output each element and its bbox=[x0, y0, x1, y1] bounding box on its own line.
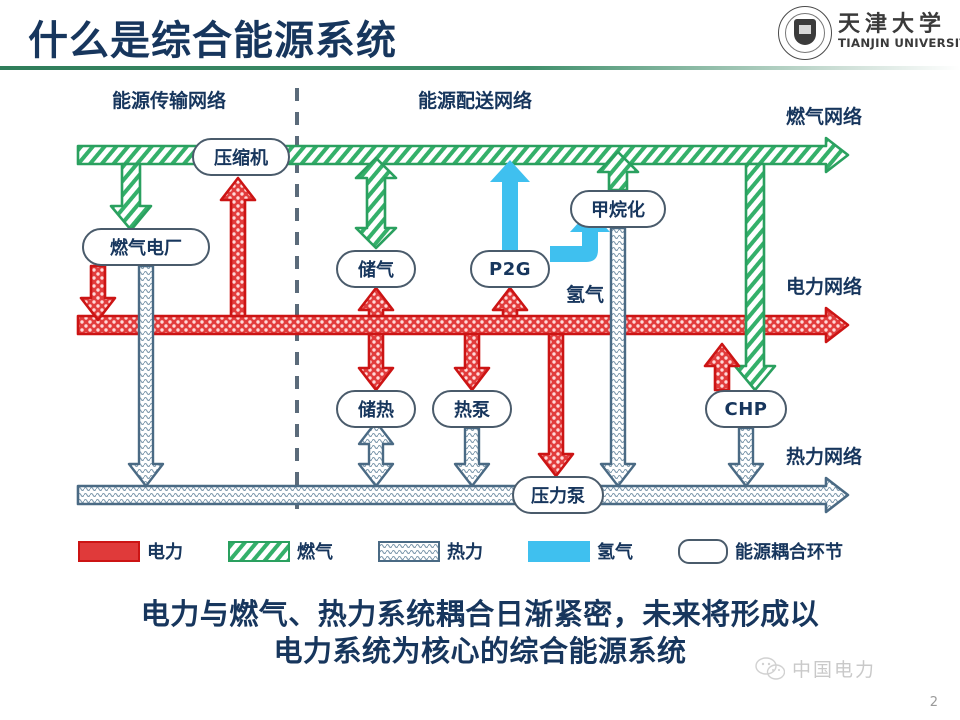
slide-header: 什么是综合能源系统 天津大学 TIANJIN UNIVERSITY bbox=[0, 0, 960, 72]
legend-label-electricity: 电力 bbox=[147, 538, 183, 564]
page-number: 2 bbox=[930, 695, 938, 710]
flow-heatpump-to-heatbus bbox=[455, 428, 489, 486]
flow-heatstorage-bidirectional bbox=[359, 422, 393, 486]
legend-item-heat: 热力 bbox=[378, 538, 483, 564]
flow-elecbus-to-heatpump bbox=[455, 334, 489, 390]
watermark-text: 中国电力 bbox=[792, 655, 876, 682]
tianjin-university-logo: 天津大学 TIANJIN UNIVERSITY bbox=[778, 4, 948, 62]
wechat-watermark: 中国电力 bbox=[755, 655, 876, 682]
logo-english-name: TIANJIN UNIVERSITY bbox=[838, 36, 960, 50]
flow-elecbus-to-pressurepump bbox=[539, 334, 573, 476]
flow-gas-storage-bidirectional bbox=[356, 158, 396, 248]
legend-label-heat: 热力 bbox=[447, 538, 483, 564]
flow-gas-to-chp bbox=[735, 164, 775, 390]
network-label-electricity: 电力网络 bbox=[786, 272, 862, 299]
node-heat-pump[interactable]: 热泵 bbox=[432, 390, 512, 428]
flow-label-hydrogen: 氢气 bbox=[566, 280, 604, 307]
legend-swatch-electricity bbox=[78, 541, 140, 562]
header-divider-rule bbox=[0, 66, 960, 70]
node-pressure-pump[interactable]: 压力泵 bbox=[512, 476, 604, 514]
flow-elecbus-to-p2g bbox=[493, 288, 527, 316]
legend-item-gas: 燃气 bbox=[228, 538, 333, 564]
legend-item-hydrogen: 氢气 bbox=[528, 538, 633, 564]
network-label-heat: 热力网络 bbox=[786, 442, 862, 469]
node-p2g[interactable]: P2G bbox=[470, 250, 550, 288]
legend-swatch-hydrogen bbox=[528, 541, 590, 562]
section-label-distribution: 能源配送网络 bbox=[418, 86, 532, 113]
node-gas-power-plant[interactable]: 燃气电厂 bbox=[82, 228, 210, 266]
legend-item-coupling: 能源耦合环节 bbox=[678, 538, 843, 564]
flow-gas-to-gasplant bbox=[111, 164, 151, 230]
flow-chp-to-elecbus bbox=[705, 344, 739, 390]
legend-swatch-gas bbox=[228, 541, 290, 562]
legend: 电力 燃气 热力 氢气 能源耦合环节 bbox=[0, 534, 960, 574]
legend-swatch-heat bbox=[378, 541, 440, 562]
electricity-bus bbox=[78, 308, 848, 342]
node-gas-storage[interactable]: 储气 bbox=[336, 250, 416, 288]
node-methanation[interactable]: 甲烷化 bbox=[570, 190, 666, 228]
heat-bus bbox=[78, 478, 848, 512]
university-seal-icon bbox=[778, 6, 832, 60]
legend-label-gas: 燃气 bbox=[297, 538, 333, 564]
page-title: 什么是综合能源系统 bbox=[28, 8, 397, 66]
flow-chp-to-heatbus bbox=[729, 428, 763, 486]
node-chp[interactable]: CHP bbox=[705, 390, 787, 428]
flow-p2g-to-gasbus-hydrogen bbox=[490, 160, 530, 250]
flow-gasplant-to-elecbus bbox=[81, 266, 115, 320]
wechat-icon bbox=[755, 657, 785, 681]
shield-icon bbox=[794, 19, 816, 45]
legend-swatch-coupling-node bbox=[678, 539, 728, 564]
node-compressor[interactable]: 压缩机 bbox=[192, 138, 290, 176]
energy-system-diagram: 能源传输网络 能源配送网络 燃气网络 电力网络 热力网络 氢气 压缩机 燃气电厂… bbox=[0, 72, 960, 527]
legend-label-coupling: 能源耦合环节 bbox=[735, 538, 843, 564]
section-label-transmission: 能源传输网络 bbox=[112, 86, 226, 113]
flow-methanation-to-heatbus bbox=[601, 228, 635, 486]
logo-chinese-name: 天津大学 bbox=[838, 6, 946, 38]
flow-elecbus-to-gasstorage bbox=[359, 288, 393, 316]
node-heat-storage[interactable]: 储热 bbox=[336, 390, 416, 428]
network-label-gas: 燃气网络 bbox=[786, 102, 862, 129]
legend-item-electricity: 电力 bbox=[78, 538, 183, 564]
conclusion-line-1: 电力与燃气、热力系统耦合日渐紧密，未来将形成以 bbox=[0, 596, 960, 633]
flow-gasplant-to-heatbus bbox=[129, 266, 163, 486]
flow-elecbus-to-heatstorage bbox=[359, 334, 393, 390]
flow-elecbus-to-compressor bbox=[221, 178, 255, 316]
legend-label-hydrogen: 氢气 bbox=[597, 538, 633, 564]
